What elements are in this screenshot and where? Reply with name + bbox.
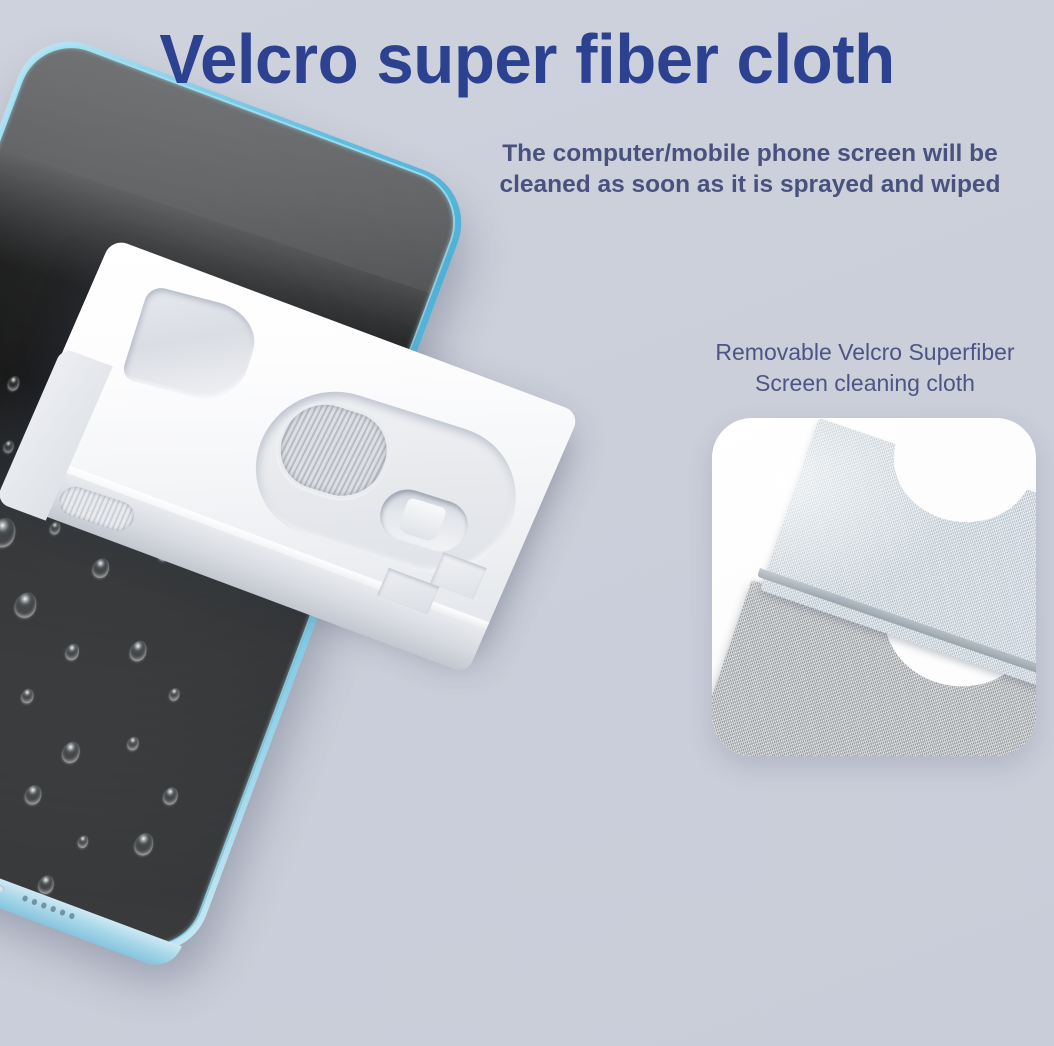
product-poster: Velcro super fiber cloth The computer/mo… — [0, 0, 1054, 1046]
cloth-slot — [373, 483, 475, 558]
subtitle-line-2: cleaned as soon as it is sprayed and wip… — [499, 171, 1000, 198]
page-title: Velcro super fiber cloth — [21, 22, 1033, 96]
velcro-cloth-inset-photo — [712, 418, 1036, 756]
subtitle: The computer/mobile phone screen will be… — [455, 138, 1045, 200]
inset-caption-line-2: Screen cleaning cloth — [676, 368, 1054, 399]
inset-caption-line-1: Removable Velcro Superfiber — [676, 337, 1054, 368]
textured-grip-pad — [265, 391, 402, 510]
slot-tab — [397, 497, 448, 543]
subtitle-line-1: The computer/mobile phone screen will be — [502, 140, 998, 167]
inset-caption: Removable Velcro Superfiber Screen clean… — [676, 337, 1054, 399]
